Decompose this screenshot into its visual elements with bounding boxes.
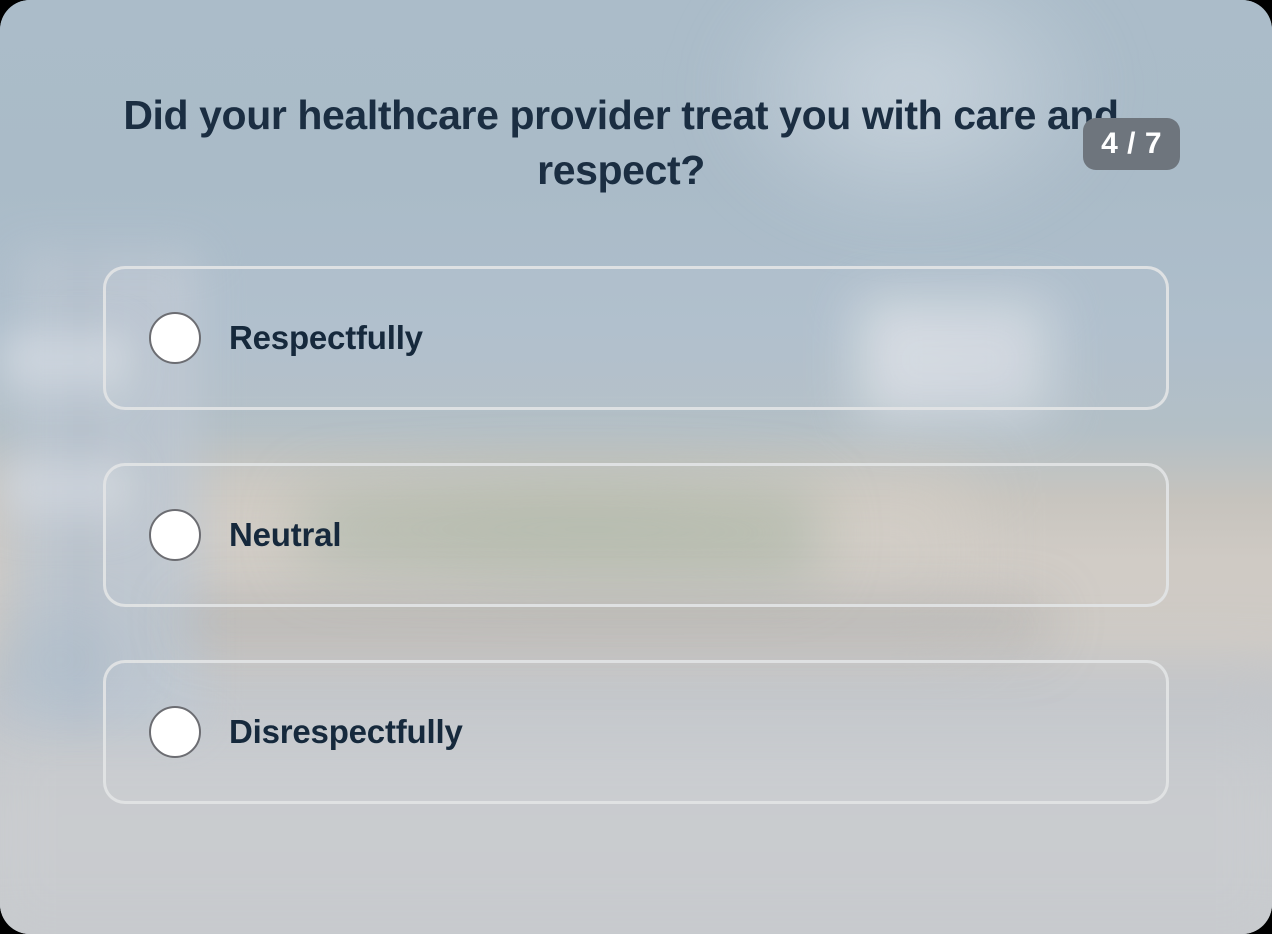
question-header: Did your healthcare provider treat you w…: [0, 88, 1272, 198]
radio-icon-neutral[interactable]: [149, 509, 201, 561]
option-disrespectfully[interactable]: Disrespectfully: [103, 660, 1169, 804]
option-label-disrespectfully: Disrespectfully: [229, 713, 463, 751]
question-title: Did your healthcare provider treat you w…: [110, 88, 1162, 198]
option-label-respectfully: Respectfully: [229, 319, 423, 357]
radio-icon-respectfully[interactable]: [149, 312, 201, 364]
option-label-neutral: Neutral: [229, 516, 341, 554]
option-respectfully[interactable]: Respectfully: [103, 266, 1169, 410]
progress-badge: 4 / 7: [1083, 118, 1180, 170]
survey-question-card: Did your healthcare provider treat you w…: [0, 0, 1272, 934]
answer-options-list: Respectfully Neutral Disrespectfully: [103, 266, 1169, 804]
survey-content: Did your healthcare provider treat you w…: [0, 0, 1272, 934]
radio-icon-disrespectfully[interactable]: [149, 706, 201, 758]
option-neutral[interactable]: Neutral: [103, 463, 1169, 607]
